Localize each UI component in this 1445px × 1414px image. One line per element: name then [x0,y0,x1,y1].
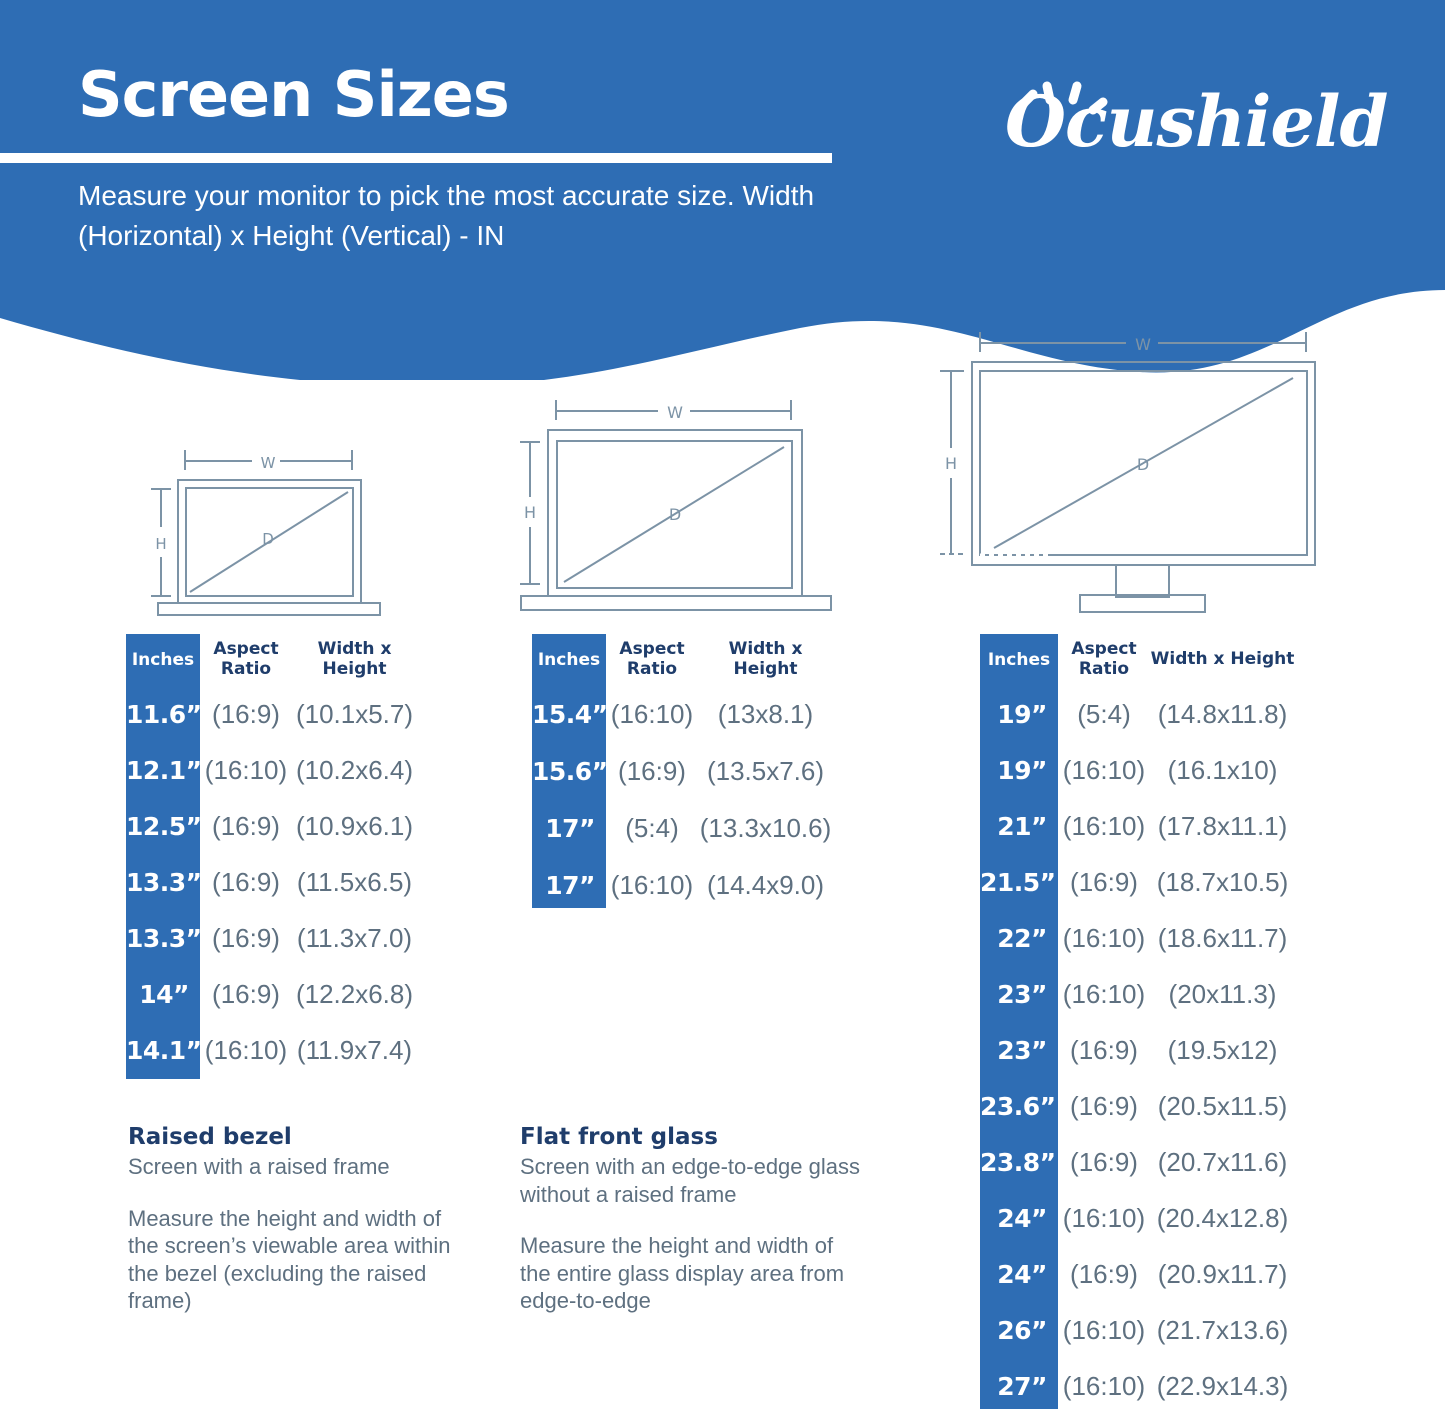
note-raised-bezel: Raised bezel Screen with a raised frame … [128,1124,473,1315]
table-body: 15.4”(16:10)(13x8.1)15.6”(16:9)(13.5x7.6… [532,686,833,914]
brand-logo: Ocushield [1005,66,1365,176]
cell-width-height: (10.1x5.7) [292,699,417,730]
cell-inches: 14.1” [126,1036,200,1065]
cell-inches: 12.1” [126,756,200,785]
table-row: 14.1”(16:10)(11.9x7.4) [126,1022,417,1078]
cell-inches: 15.6” [532,757,606,786]
label-width: W [261,454,276,472]
cell-inches: 15.4” [532,700,606,729]
table-row: 24”(16:10)(20.4x12.8) [980,1190,1295,1246]
page-subtitle: Measure your monitor to pick the most ac… [78,176,868,256]
diagram-flat-front-glass: W H D [508,392,843,627]
label-height: H [524,503,536,522]
cell-inches: 13.3” [126,868,200,897]
label-height: H [945,454,957,473]
table-row: 23.8”(16:9)(20.7x11.6) [980,1134,1295,1190]
table-raised-bezel: Inches Aspect Ratio Width x Height 11.6”… [126,634,417,1078]
label-height: H [155,535,166,553]
table-row: 22”(16:10)(18.6x11.7) [980,910,1295,966]
header-aspect-line2: Ratio [627,659,677,679]
header-aspect-line2: Ratio [221,659,271,679]
cell-aspect-ratio: (5:4) [1058,699,1150,730]
header-aspect-ratio: Aspect Ratio [1058,640,1150,679]
desktop-monitor-illustration: W H D [928,326,1328,618]
header-aspect-line1: Aspect [213,639,278,659]
title-divider [0,153,832,163]
table-row: 19”(16:10)(16.1x10) [980,742,1295,798]
cell-width-height: (20.9x11.7) [1150,1259,1295,1290]
table-header-row: Inches Aspect Ratio Width x Height [980,634,1295,686]
cell-width-height: (22.9x14.3) [1150,1371,1295,1402]
cell-inches: 21” [980,812,1058,841]
cell-aspect-ratio: (16:10) [1058,811,1150,842]
cell-width-height: (17.8x11.1) [1150,811,1295,842]
cell-inches: 26” [980,1316,1058,1345]
table-grid: Inches Aspect Ratio Width x Height 19”(5… [980,634,1295,1414]
cell-inches: 24” [980,1260,1058,1289]
table-row: 13.3”(16:9)(11.3x7.0) [126,910,417,966]
cell-aspect-ratio: (16:9) [200,867,292,898]
page-title: Screen Sizes [78,62,509,127]
label-diagonal: D [1137,455,1149,474]
table-row: 23”(16:10)(20x11.3) [980,966,1295,1022]
table-desktop-monitor: Inches Aspect Ratio Width x Height 19”(5… [980,634,1295,1414]
table-row: 19”(5:4)(14.8x11.8) [980,686,1295,742]
table-row: 15.6”(16:9)(13.5x7.6) [532,743,833,800]
cell-inches: 23” [980,1036,1058,1065]
label-width: W [1135,335,1151,354]
cell-inches: 17” [532,814,606,843]
header-inches: Inches [126,650,200,670]
cell-width-height: (10.2x6.4) [292,755,417,786]
label-width: W [667,403,683,422]
cell-aspect-ratio: (16:10) [1058,923,1150,954]
table-row: 17”(16:10)(14.4x9.0) [532,857,833,914]
cell-width-height: (21.7x13.6) [1150,1315,1295,1346]
header-width-height: Width x Height [292,640,417,679]
cell-width-height: (12.2x6.8) [292,979,417,1010]
cell-aspect-ratio: (16:10) [606,699,698,730]
cell-aspect-ratio: (16:9) [200,811,292,842]
cell-inches: 13.3” [126,924,200,953]
cell-inches: 17” [532,871,606,900]
table-row: 23.6”(16:9)(20.5x11.5) [980,1078,1295,1134]
note-body: Measure the height and width of the scre… [128,1205,473,1315]
table-row: 23”(16:9)(19.5x12) [980,1022,1295,1078]
header-aspect-line1: Aspect [1071,639,1136,659]
note-flat-front-glass: Flat front glass Screen with an edge-to-… [520,1124,865,1315]
note-subtitle: Screen with a raised frame [128,1153,473,1181]
cell-width-height: (14.8x11.8) [1150,699,1295,730]
cell-aspect-ratio: (16:9) [200,923,292,954]
cell-aspect-ratio: (16:10) [1058,1315,1150,1346]
table-row: 21”(16:10)(17.8x11.1) [980,798,1295,854]
cell-inches: 19” [980,756,1058,785]
table-body: 19”(5:4)(14.8x11.8)19”(16:10)(16.1x10)21… [980,686,1295,1414]
cell-aspect-ratio: (16:10) [606,870,698,901]
table-row: 27”(16:10)(22.9x14.3) [980,1358,1295,1414]
cell-width-height: (18.6x11.7) [1150,923,1295,954]
table-row: 17”(5:4)(13.3x10.6) [532,800,833,857]
cell-width-height: (14.4x9.0) [698,870,833,901]
cell-aspect-ratio: (16:9) [1058,1259,1150,1290]
table-row: 21.5”(16:9)(18.7x10.5) [980,854,1295,910]
label-diagonal: D [262,530,274,548]
cell-inches: 14” [126,980,200,1009]
cell-width-height: (11.5x6.5) [292,867,417,898]
cell-inches: 23.6” [980,1092,1058,1121]
cell-inches: 24” [980,1204,1058,1233]
table-grid: Inches Aspect Ratio Width x Height 15.4”… [532,634,833,914]
cell-aspect-ratio: (16:10) [1058,1203,1150,1234]
label-diagonal: D [669,505,681,524]
cell-inches: 12.5” [126,812,200,841]
cell-width-height: (13x8.1) [698,699,833,730]
table-row: 15.4”(16:10)(13x8.1) [532,686,833,743]
table-flat-glass: Inches Aspect Ratio Width x Height 15.4”… [532,634,833,914]
cell-aspect-ratio: (16:9) [1058,867,1150,898]
table-row: 11.6”(16:9)(10.1x5.7) [126,686,417,742]
cell-width-height: (19.5x12) [1150,1035,1295,1066]
flat-glass-monitor-illustration: W H D [508,392,843,622]
header-inches: Inches [532,650,606,670]
cell-aspect-ratio: (16:10) [200,1035,292,1066]
header-width-height: Width x Height [698,640,833,679]
cell-aspect-ratio: (16:9) [200,699,292,730]
header-aspect-ratio: Aspect Ratio [606,640,698,679]
note-title: Flat front glass [520,1124,865,1150]
cell-inches: 23.8” [980,1148,1058,1177]
table-body: 11.6”(16:9)(10.1x5.7)12.1”(16:10)(10.2x6… [126,686,417,1078]
table-grid: Inches Aspect Ratio Width x Height 11.6”… [126,634,417,1078]
header-inches: Inches [980,650,1058,670]
cell-width-height: (20.7x11.6) [1150,1147,1295,1178]
table-row: 13.3”(16:9)(11.5x6.5) [126,854,417,910]
cell-width-height: (11.9x7.4) [292,1035,417,1066]
brand-logo-text: Ocushield [1005,80,1387,163]
cell-width-height: (11.3x7.0) [292,923,417,954]
table-row: 26”(16:10)(21.7x13.6) [980,1302,1295,1358]
note-title: Raised bezel [128,1124,473,1150]
note-subtitle: Screen with an edge-to-edge glass withou… [520,1153,865,1208]
cell-aspect-ratio: (16:9) [200,979,292,1010]
cell-aspect-ratio: (16:9) [1058,1035,1150,1066]
cell-inches: 22” [980,924,1058,953]
cell-width-height: (13.5x7.6) [698,756,833,787]
cell-width-height: (18.7x10.5) [1150,867,1295,898]
diagram-desktop-monitor: W H D [928,326,1328,623]
cell-width-height: (16.1x10) [1150,755,1295,786]
cell-aspect-ratio: (16:10) [1058,1371,1150,1402]
cell-inches: 11.6” [126,700,200,729]
header-aspect-line1: Aspect [619,639,684,659]
diagram-raised-bezel: W H D [128,432,408,632]
cell-width-height: (13.3x10.6) [698,813,833,844]
cell-width-height: (10.9x6.1) [292,811,417,842]
note-body: Measure the height and width of the enti… [520,1232,865,1315]
table-row: 12.1”(16:10)(10.2x6.4) [126,742,417,798]
header-width-height: Width x Height [1150,650,1295,670]
table-header-row: Inches Aspect Ratio Width x Height [532,634,833,686]
cell-width-height: (20.4x12.8) [1150,1203,1295,1234]
cell-inches: 19” [980,700,1058,729]
header-aspect-line2: Ratio [1079,659,1129,679]
cell-aspect-ratio: (16:9) [606,756,698,787]
cell-inches: 27” [980,1372,1058,1401]
cell-width-height: (20.5x11.5) [1150,1091,1295,1122]
table-header-row: Inches Aspect Ratio Width x Height [126,634,417,686]
cell-width-height: (20x11.3) [1150,979,1295,1010]
table-row: 24”(16:9)(20.9x11.7) [980,1246,1295,1302]
cell-inches: 23” [980,980,1058,1009]
table-row: 12.5”(16:9)(10.9x6.1) [126,798,417,854]
cell-aspect-ratio: (16:9) [1058,1091,1150,1122]
cell-aspect-ratio: (16:10) [200,755,292,786]
laptop-monitor-illustration: W H D [128,432,408,627]
cell-inches: 21.5” [980,868,1058,897]
cell-aspect-ratio: (16:10) [1058,755,1150,786]
cell-aspect-ratio: (16:9) [1058,1147,1150,1178]
cell-aspect-ratio: (5:4) [606,813,698,844]
table-row: 14”(16:9)(12.2x6.8) [126,966,417,1022]
cell-aspect-ratio: (16:10) [1058,979,1150,1010]
header-aspect-ratio: Aspect Ratio [200,640,292,679]
header-banner: Screen Sizes Measure your monitor to pic… [0,0,1445,380]
